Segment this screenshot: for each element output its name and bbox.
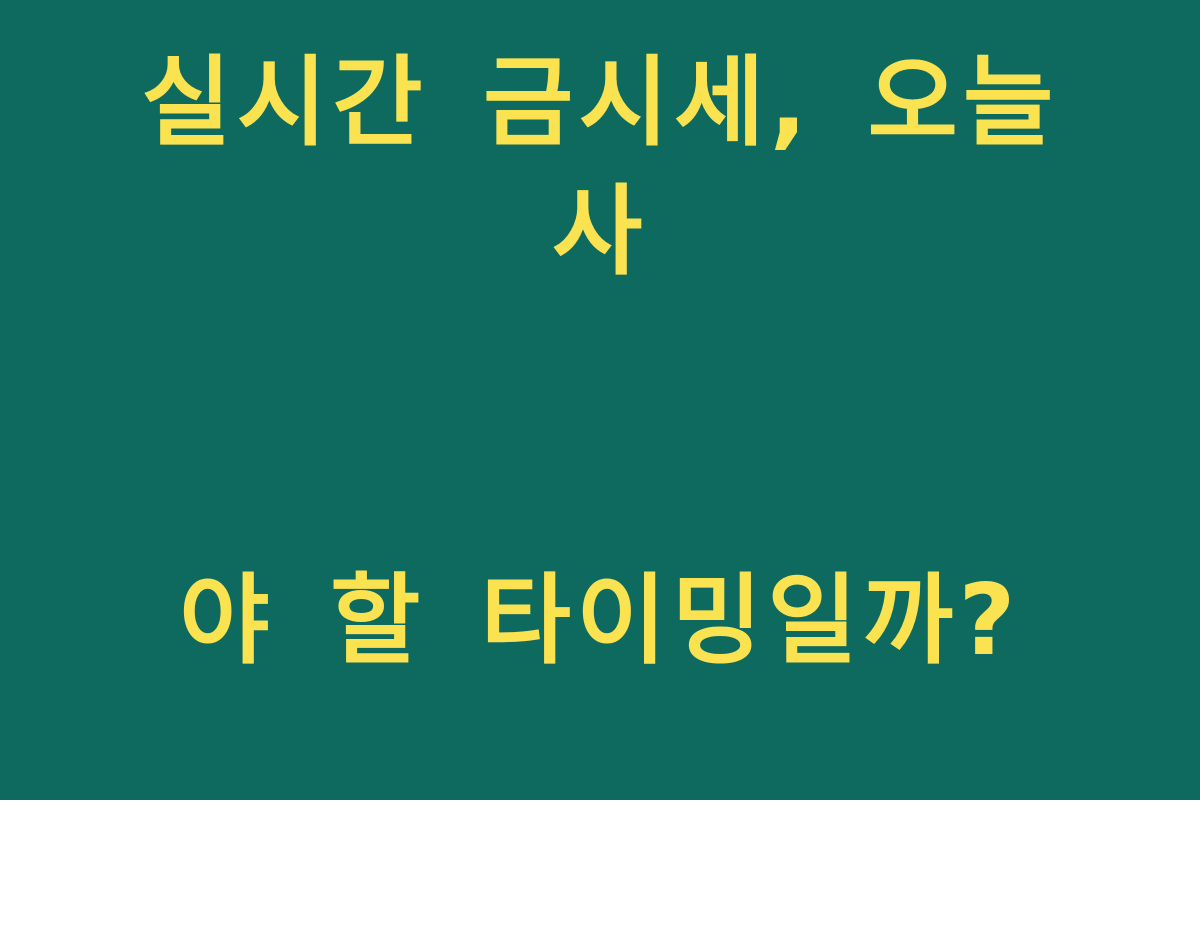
headline-line-2: 야 할 타이밍일까? [95, 557, 1105, 686]
page-title: 실시간 금시세, 오늘 사 야 할 타이밍일까? [95, 0, 1105, 945]
banner-card: 실시간 금시세, 오늘 사 야 할 타이밍일까? [0, 0, 1200, 800]
headline-line-1: 실시간 금시세, 오늘 사 [95, 39, 1105, 298]
